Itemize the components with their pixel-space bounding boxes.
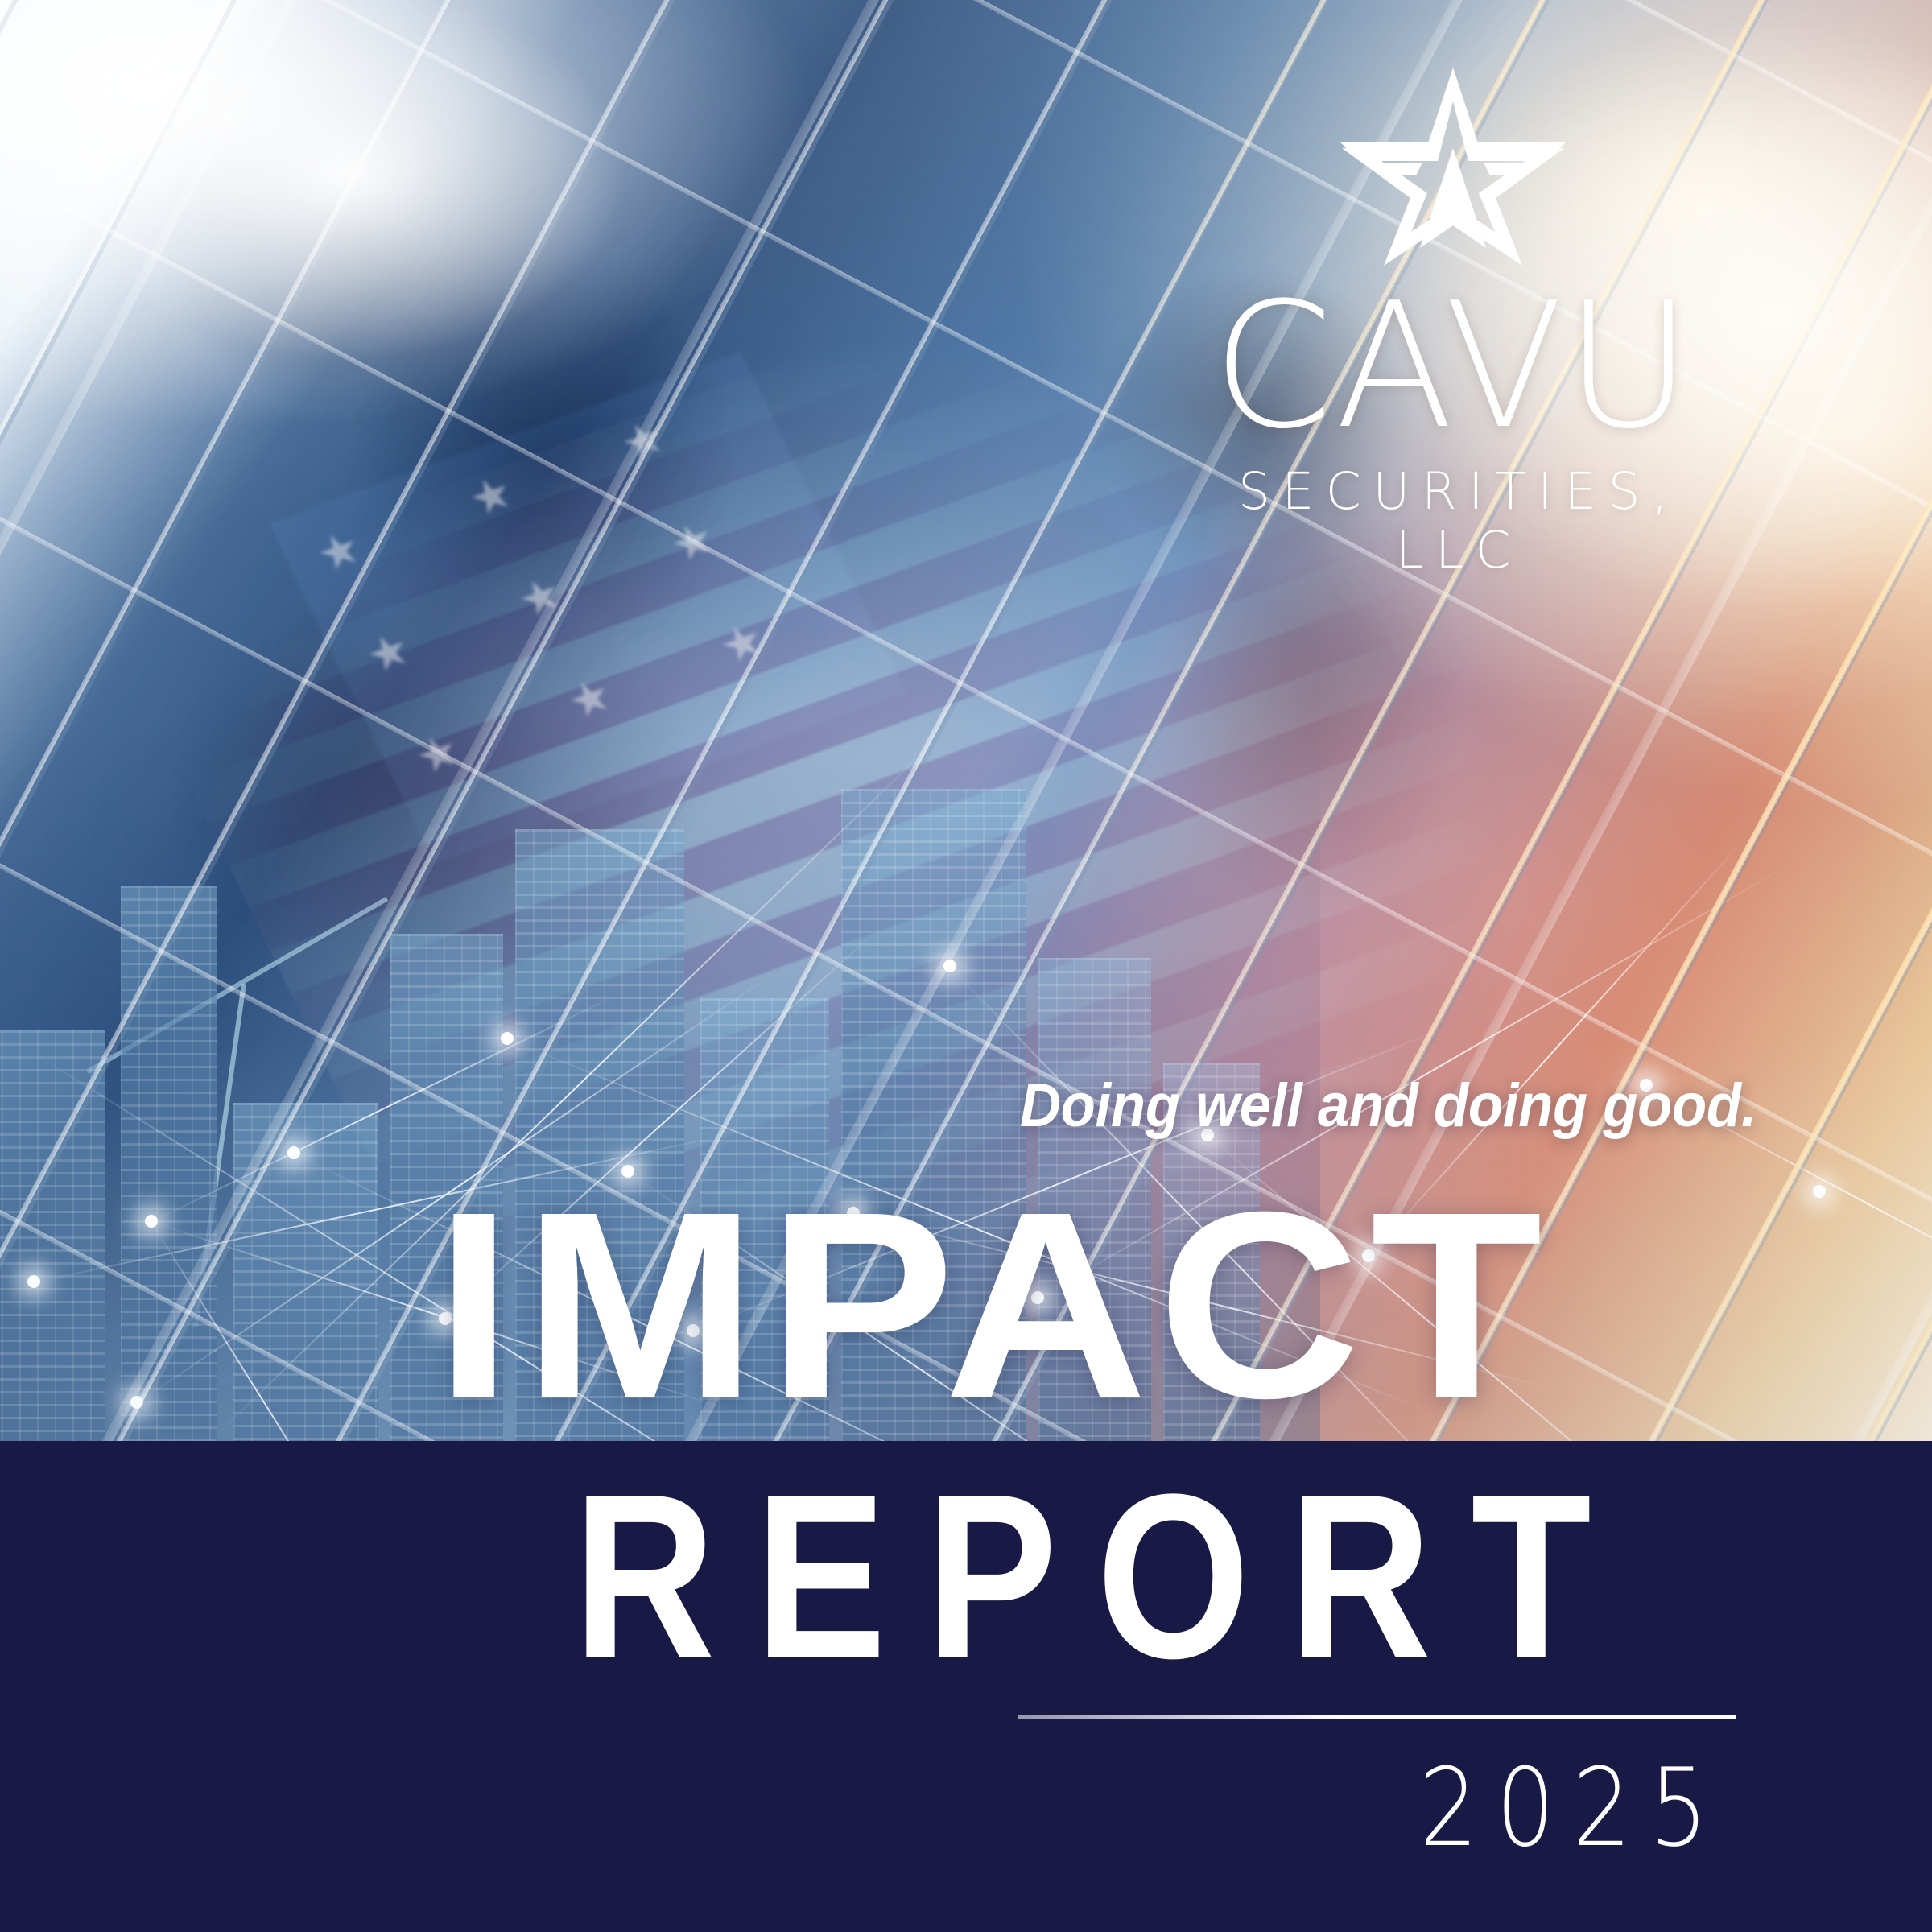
headline-impact: IMPACT — [435, 1172, 1552, 1438]
cavu-logo: CAVU SECURITIES, LLC — [1171, 64, 1735, 580]
cover-tagline: Doing well and doing good. — [1020, 1071, 1757, 1141]
winged-star-icon — [1336, 64, 1570, 266]
impact-report-cover: CAVU SECURITIES, LLC Doing well and doin… — [0, 0, 1932, 1932]
headline-report: REPORT — [573, 1459, 1631, 1693]
report-year: 2025 — [1419, 1745, 1726, 1871]
cavu-sub-wordmark: SECURITIES, LLC — [1171, 462, 1735, 580]
year-divider-rule — [1018, 1715, 1736, 1719]
cavu-wordmark: CAVU — [1171, 287, 1735, 446]
